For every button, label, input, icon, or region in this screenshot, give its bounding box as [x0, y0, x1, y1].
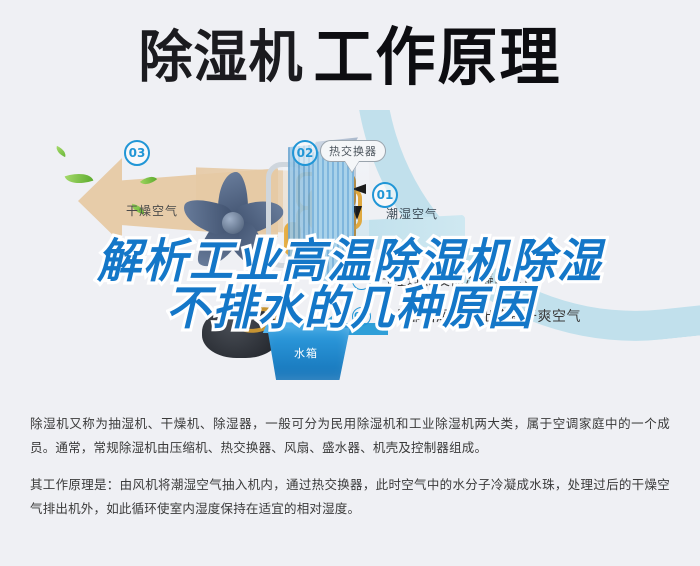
step-item: 02 气经过蒸发器冷凝成水珠 [352, 270, 692, 290]
fan-hub [222, 212, 244, 234]
leaf-icon [54, 146, 68, 157]
dry-air-label: 干燥空气 [126, 202, 178, 219]
badge-01: 01 [372, 182, 398, 208]
title-part-2: 工作原理 [314, 27, 562, 90]
step-list: 02 气经过蒸发器冷凝成水珠 03 从上部出风口吹出清新干爽空气 [352, 270, 692, 342]
page-root: 除湿机 工作原理 [0, 0, 700, 566]
step-badge: 03 [352, 307, 371, 326]
dehumidifier-diagram: 水箱 干燥空气 潮湿空气 01 02 03 热交换器 02 气经过蒸发器冷凝成水… [0, 110, 700, 405]
flow-arrow-left-icon [352, 184, 366, 194]
title-part-1: 除湿机 [139, 30, 304, 86]
step-badge: 02 [352, 271, 371, 290]
heat-exchanger-callout: 热交换器 [320, 140, 386, 162]
body-paragraph-1: 除湿机又称为抽湿机、干燥机、除湿器，一般可分为民用除湿机和工业除湿机两大类，属于… [30, 412, 670, 461]
body-paragraph-2: 其工作原理是：由风机将潮湿空气抽入机内，通过热交换器，此时空气中的水分子冷凝成水… [30, 473, 670, 522]
step-text: 从上部出风口吹出清新干爽空气 [378, 306, 581, 326]
leaf-icon [65, 168, 94, 188]
step-text: 气经过蒸发器冷凝成水珠 [378, 270, 538, 290]
page-title: 除湿机 工作原理 [0, 18, 700, 98]
humid-air-label: 潮湿空气 [386, 205, 438, 222]
step-item: 03 从上部出风口吹出清新干爽空气 [352, 306, 692, 326]
badge-02: 02 [292, 140, 318, 166]
article-body: 除湿机又称为抽湿机、干燥机、除湿器，一般可分为民用除湿机和工业除湿机两大类，属于… [0, 412, 700, 522]
water-tank-label: 水箱 [294, 345, 318, 361]
badge-03: 03 [124, 140, 150, 166]
